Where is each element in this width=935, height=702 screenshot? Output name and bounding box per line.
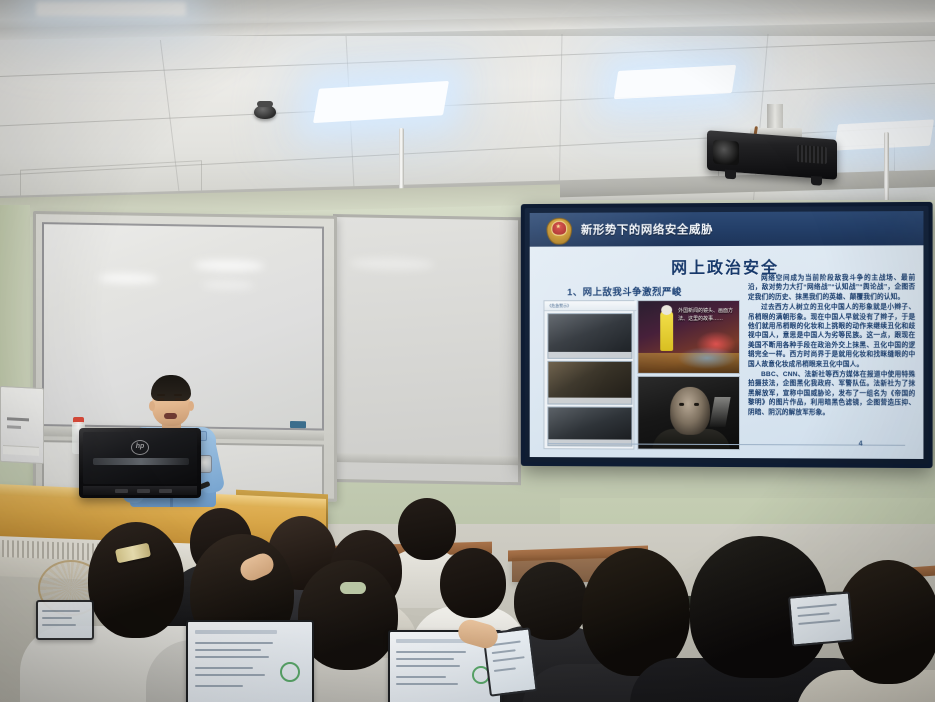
- monitor-reflection: [93, 458, 189, 465]
- presentation-slide: 新形势下的网络安全威胁 网上政治安全 1、网上敌我斗争激烈严峻 《危急警示》: [530, 211, 924, 459]
- photo-figure: [660, 311, 673, 351]
- officer-eye: [175, 398, 181, 401]
- collage-thumb: [547, 313, 632, 359]
- wall-unit-label: [7, 425, 21, 429]
- wall-unit-label: [7, 417, 29, 421]
- document-text-line: [42, 610, 80, 612]
- collage-top-right-photo: 外国新闻的镜头、画面方法、这里的故事……: [637, 300, 740, 374]
- projection-screen[interactable]: 新形势下的网络安全威胁 网上政治安全 1、网上敌我斗争激烈严峻 《危急警示》: [521, 202, 933, 468]
- projector-vent: [797, 145, 827, 164]
- document-text-line: [396, 683, 458, 685]
- photo-figure-head: [661, 305, 672, 315]
- whiteboard-marker: [290, 421, 306, 428]
- hair-tie: [340, 582, 366, 594]
- dome-camera-icon: [254, 105, 276, 119]
- ceiling-light-panel: [313, 81, 449, 123]
- document-toolbar: [396, 639, 468, 643]
- document-text-line: [42, 624, 76, 626]
- monitor-button[interactable]: [115, 489, 128, 493]
- whiteboard-glare: [202, 281, 254, 290]
- document-text-line: [195, 667, 253, 669]
- slide-paragraph: 过去西方人树立的丑化中国人的形象就是小辫子、吊梢眼的满朝形象。现在中国人早就没有…: [748, 303, 915, 369]
- projector-foot: [811, 176, 822, 186]
- chat-text-line: [492, 649, 516, 653]
- whiteboard-secondary: [333, 214, 521, 485]
- wall-unit-strip: [3, 445, 39, 456]
- document-text-line: [42, 617, 72, 619]
- document-text-line: [396, 676, 446, 678]
- chat-text-line: [797, 604, 837, 609]
- document-text-line: [396, 665, 460, 667]
- classroom-photo-scene: 新形势下的网络安全威胁 网上政治安全 1、网上敌我斗争激烈严峻 《危急警示》: [0, 0, 935, 702]
- hanging-pole: [884, 132, 889, 210]
- collage-bottom-right-photo: [637, 376, 740, 450]
- document-text-line: [195, 685, 243, 687]
- collage-top-right-caption: 外国新闻的镜头、画面方法、这里的故事……: [678, 307, 736, 323]
- photo-face: [670, 387, 710, 435]
- projector-foot: [725, 170, 736, 180]
- document-text-line: [396, 651, 466, 653]
- student-tablet[interactable]: [788, 591, 854, 646]
- podium-monitor: hp: [79, 428, 201, 498]
- slide-page-number: 4: [859, 441, 863, 448]
- projector-lens-icon: [713, 140, 739, 166]
- monitor-button[interactable]: [137, 489, 150, 493]
- collage-thumb: [547, 406, 632, 446]
- collage-left-webpage: 《危急警示》: [543, 300, 634, 449]
- photo-eye: [694, 403, 699, 406]
- student-head: [582, 548, 690, 676]
- chat-text-line: [494, 667, 516, 671]
- projector: [707, 130, 837, 180]
- whiteboard-glare: [98, 273, 158, 284]
- ceiling-light-panel: [614, 65, 736, 99]
- chat-text-line: [798, 619, 840, 624]
- laptop-screen[interactable]: [36, 600, 94, 640]
- document-toolbar: [195, 630, 277, 634]
- chat-text-line: [493, 656, 525, 661]
- photo-light-glow: [678, 347, 736, 369]
- officer-ear: [188, 401, 194, 411]
- whiteboard-rail: [336, 453, 518, 465]
- slide-image-collage: 《危急警示》 外国新闻的镜头、画面方法、这里的故事……: [543, 300, 738, 448]
- whiteboard-glare: [194, 260, 264, 272]
- ceiling-seam: [0, 39, 935, 78]
- monitor-button[interactable]: [159, 489, 172, 493]
- photo-highlight: [709, 397, 730, 427]
- slide-header-title: 新形势下的网络安全威胁: [581, 221, 713, 238]
- slide-bullet-point: 1、网上敌我斗争激烈严峻: [567, 284, 682, 298]
- officer-eye: [158, 398, 164, 401]
- officer-mouth: [164, 413, 177, 419]
- hp-logo-icon: hp: [131, 440, 149, 455]
- document-text-line: [195, 656, 269, 658]
- student-head: [440, 548, 506, 618]
- officer-ear: [149, 401, 155, 411]
- officer-eyebrow: [157, 394, 165, 396]
- collage-left-caption: 《危急警示》: [544, 301, 636, 311]
- ceiling-seam: [0, 82, 935, 128]
- wall-mounted-unit: [0, 386, 44, 464]
- chat-text-line: [798, 612, 830, 616]
- status-indicator-icon: [280, 662, 300, 682]
- laptop-screen[interactable]: [186, 620, 314, 702]
- document-text-line: [195, 642, 273, 644]
- document-text-line: [195, 649, 261, 651]
- officer-eyebrow: [174, 394, 182, 396]
- slide-body-text: 网络空间成为当前阶段敌我斗争的主战场、最前沿，敌对势力大打“网络战”“认知战”“…: [748, 274, 915, 419]
- collage-thumb: [547, 361, 632, 405]
- student-head: [88, 522, 184, 638]
- slide-paragraph: BBC、CNN、法新社等西方媒体在报道中使用特殊拍摄技法，企图黑化我政府、军警队…: [748, 370, 915, 418]
- student-head: [398, 498, 456, 560]
- slide-paragraph: 网络空间成为当前阶段敌我斗争的主战场、最前沿，敌对势力大打“网络战”“认知战”“…: [748, 274, 915, 303]
- document-text-line: [195, 674, 265, 676]
- photo-eye: [679, 403, 684, 406]
- ceiling: [0, 0, 935, 212]
- whiteboard-glare: [350, 257, 434, 270]
- officer-hair: [151, 375, 191, 401]
- police-badge-icon: [543, 216, 573, 246]
- document-text-line: [396, 658, 454, 660]
- ceiling-light-panel: [36, 2, 186, 16]
- wall-left-edge: [0, 205, 30, 395]
